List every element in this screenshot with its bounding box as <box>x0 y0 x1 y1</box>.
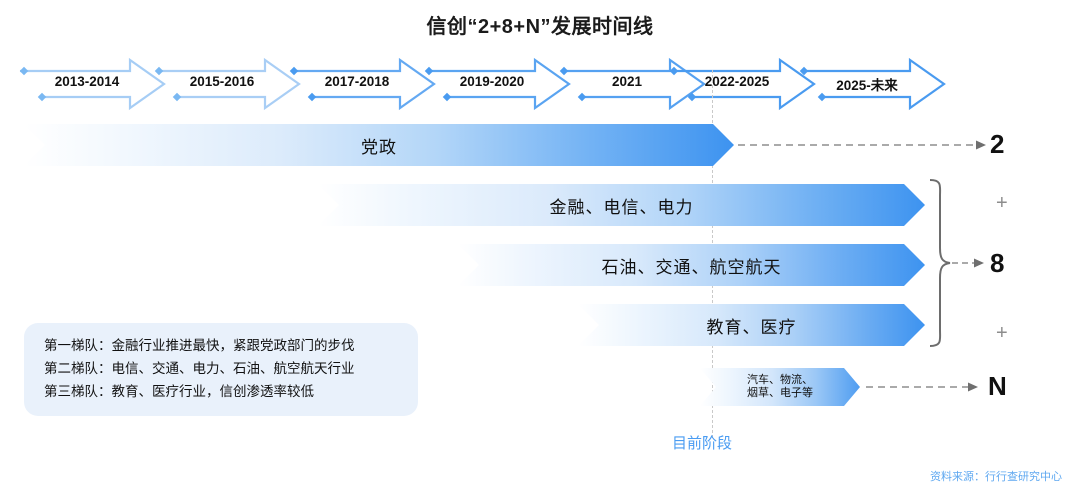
timeline-arrow-2019-2020[interactable]: 2019-2020 <box>425 58 573 110</box>
marker-plus-top: + <box>996 192 1008 215</box>
marker-two: 2 <box>990 129 1004 160</box>
timeline-label: 2025-未来 <box>812 74 922 94</box>
bar-label: 党政 <box>361 133 397 158</box>
source-label: 资料来源：行行查研究中心 <box>930 468 1062 484</box>
timeline-arrow-2017-2018[interactable]: 2017-2018 <box>290 58 438 110</box>
timeline-arrow-2015-2016[interactable]: 2015-2016 <box>155 58 303 110</box>
bar-education-medical[interactable]: 教育、医疗 <box>578 304 925 346</box>
marker-plus-bottom: + <box>996 322 1008 345</box>
timeline-arrow-2022-2025[interactable]: 2022-2025 <box>670 58 818 110</box>
timeline-label: 2015-2016 <box>167 74 277 89</box>
marker-n: N <box>988 371 1007 402</box>
legend-line-tier-1: 第一梯队：金融行业推进最快，紧跟党政部门的步伐 <box>44 334 404 357</box>
connector-arrow-n <box>866 383 978 392</box>
timeline-label: 2013-2014 <box>32 74 142 89</box>
legend-line-tier-2: 第二梯队：电信、交通、电力、石油、航空航天行业 <box>44 357 404 380</box>
legend-panel: 第一梯队：金融行业推进最快，紧跟党政部门的步伐 第二梯队：电信、交通、电力、石油… <box>24 323 418 416</box>
page-title: 信创“2+8+N”发展时间线 <box>0 10 1080 39</box>
connector-arrow-8 <box>952 259 984 268</box>
bar-oil-transport-aerospace[interactable]: 石油、交通、航空航天 <box>458 244 925 286</box>
timeline-label: 2019-2020 <box>437 74 547 89</box>
timeline-label: 2022-2025 <box>682 74 792 89</box>
bar-label: 教育、医疗 <box>707 313 797 338</box>
bar-finance-telecom-power[interactable]: 金融、电信、电力 <box>318 184 925 226</box>
marker-eight: 8 <box>990 248 1004 279</box>
bar-label: 石油、交通、航空航天 <box>602 253 782 278</box>
bar-label: 金融、电信、电力 <box>550 193 694 218</box>
bar-n-industries[interactable]: 汽车、物流、 烟草、电子等 <box>700 368 860 406</box>
timeline-arrow-2025-future[interactable]: 2025-未来 <box>800 58 948 110</box>
timeline-arrow-row: 2013-2014 2015-2016 2017-2018 2019-2020 <box>0 58 1080 110</box>
timeline-label: 2021 <box>572 74 682 89</box>
legend-line-tier-3: 第三梯队：教育、医疗行业，信创渗透率较低 <box>44 380 404 403</box>
connector-arrow-2 <box>738 141 986 150</box>
timeline-arrow-2013-2014[interactable]: 2013-2014 <box>20 58 168 110</box>
bar-n-line1: 汽车、物流、 <box>747 374 813 387</box>
bar-government[interactable]: 党政 <box>24 124 734 166</box>
brace-eight <box>930 180 950 346</box>
bar-n-line2: 烟草、电子等 <box>747 387 813 400</box>
timeline-label: 2017-2018 <box>302 74 412 89</box>
current-stage-label: 目前阶段 <box>672 432 732 453</box>
